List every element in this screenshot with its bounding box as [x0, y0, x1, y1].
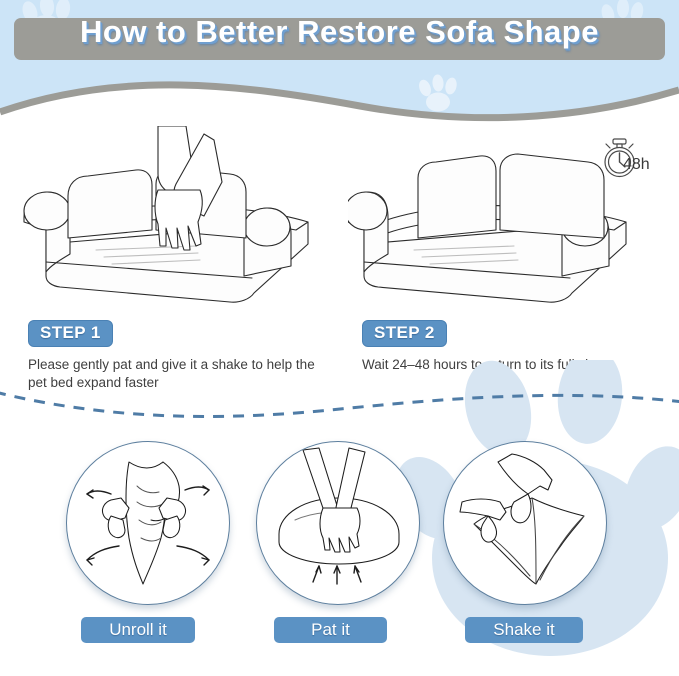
hands-patting-icon	[257, 442, 419, 604]
page-title: How to Better Restore Sofa Shape	[14, 14, 665, 50]
action-label-pat[interactable]: Pat it	[274, 617, 387, 643]
hands-unrolling-icon	[67, 442, 229, 604]
circle-frame-pat	[256, 441, 420, 605]
duration-label: 48h	[623, 156, 650, 174]
action-label-shake[interactable]: Shake it	[465, 617, 583, 643]
action-label-unroll[interactable]: Unroll it	[81, 617, 195, 643]
action-circle-shake[interactable]	[443, 441, 607, 605]
sofa-illustration-step-2	[348, 126, 678, 311]
hands-shaking-icon	[444, 442, 606, 604]
infographic-page: How to Better Restore Sofa Shape	[0, 0, 679, 676]
step-1-badge: STEP 1	[28, 320, 113, 347]
dashed-wave-divider	[0, 370, 679, 440]
circle-frame-shake	[443, 441, 607, 605]
action-circle-unroll[interactable]	[66, 441, 230, 605]
step-2-badge: STEP 2	[362, 320, 447, 347]
sofa-illustration-step-1	[8, 126, 338, 311]
circle-frame-unroll	[66, 441, 230, 605]
action-circle-pat[interactable]	[256, 441, 420, 605]
